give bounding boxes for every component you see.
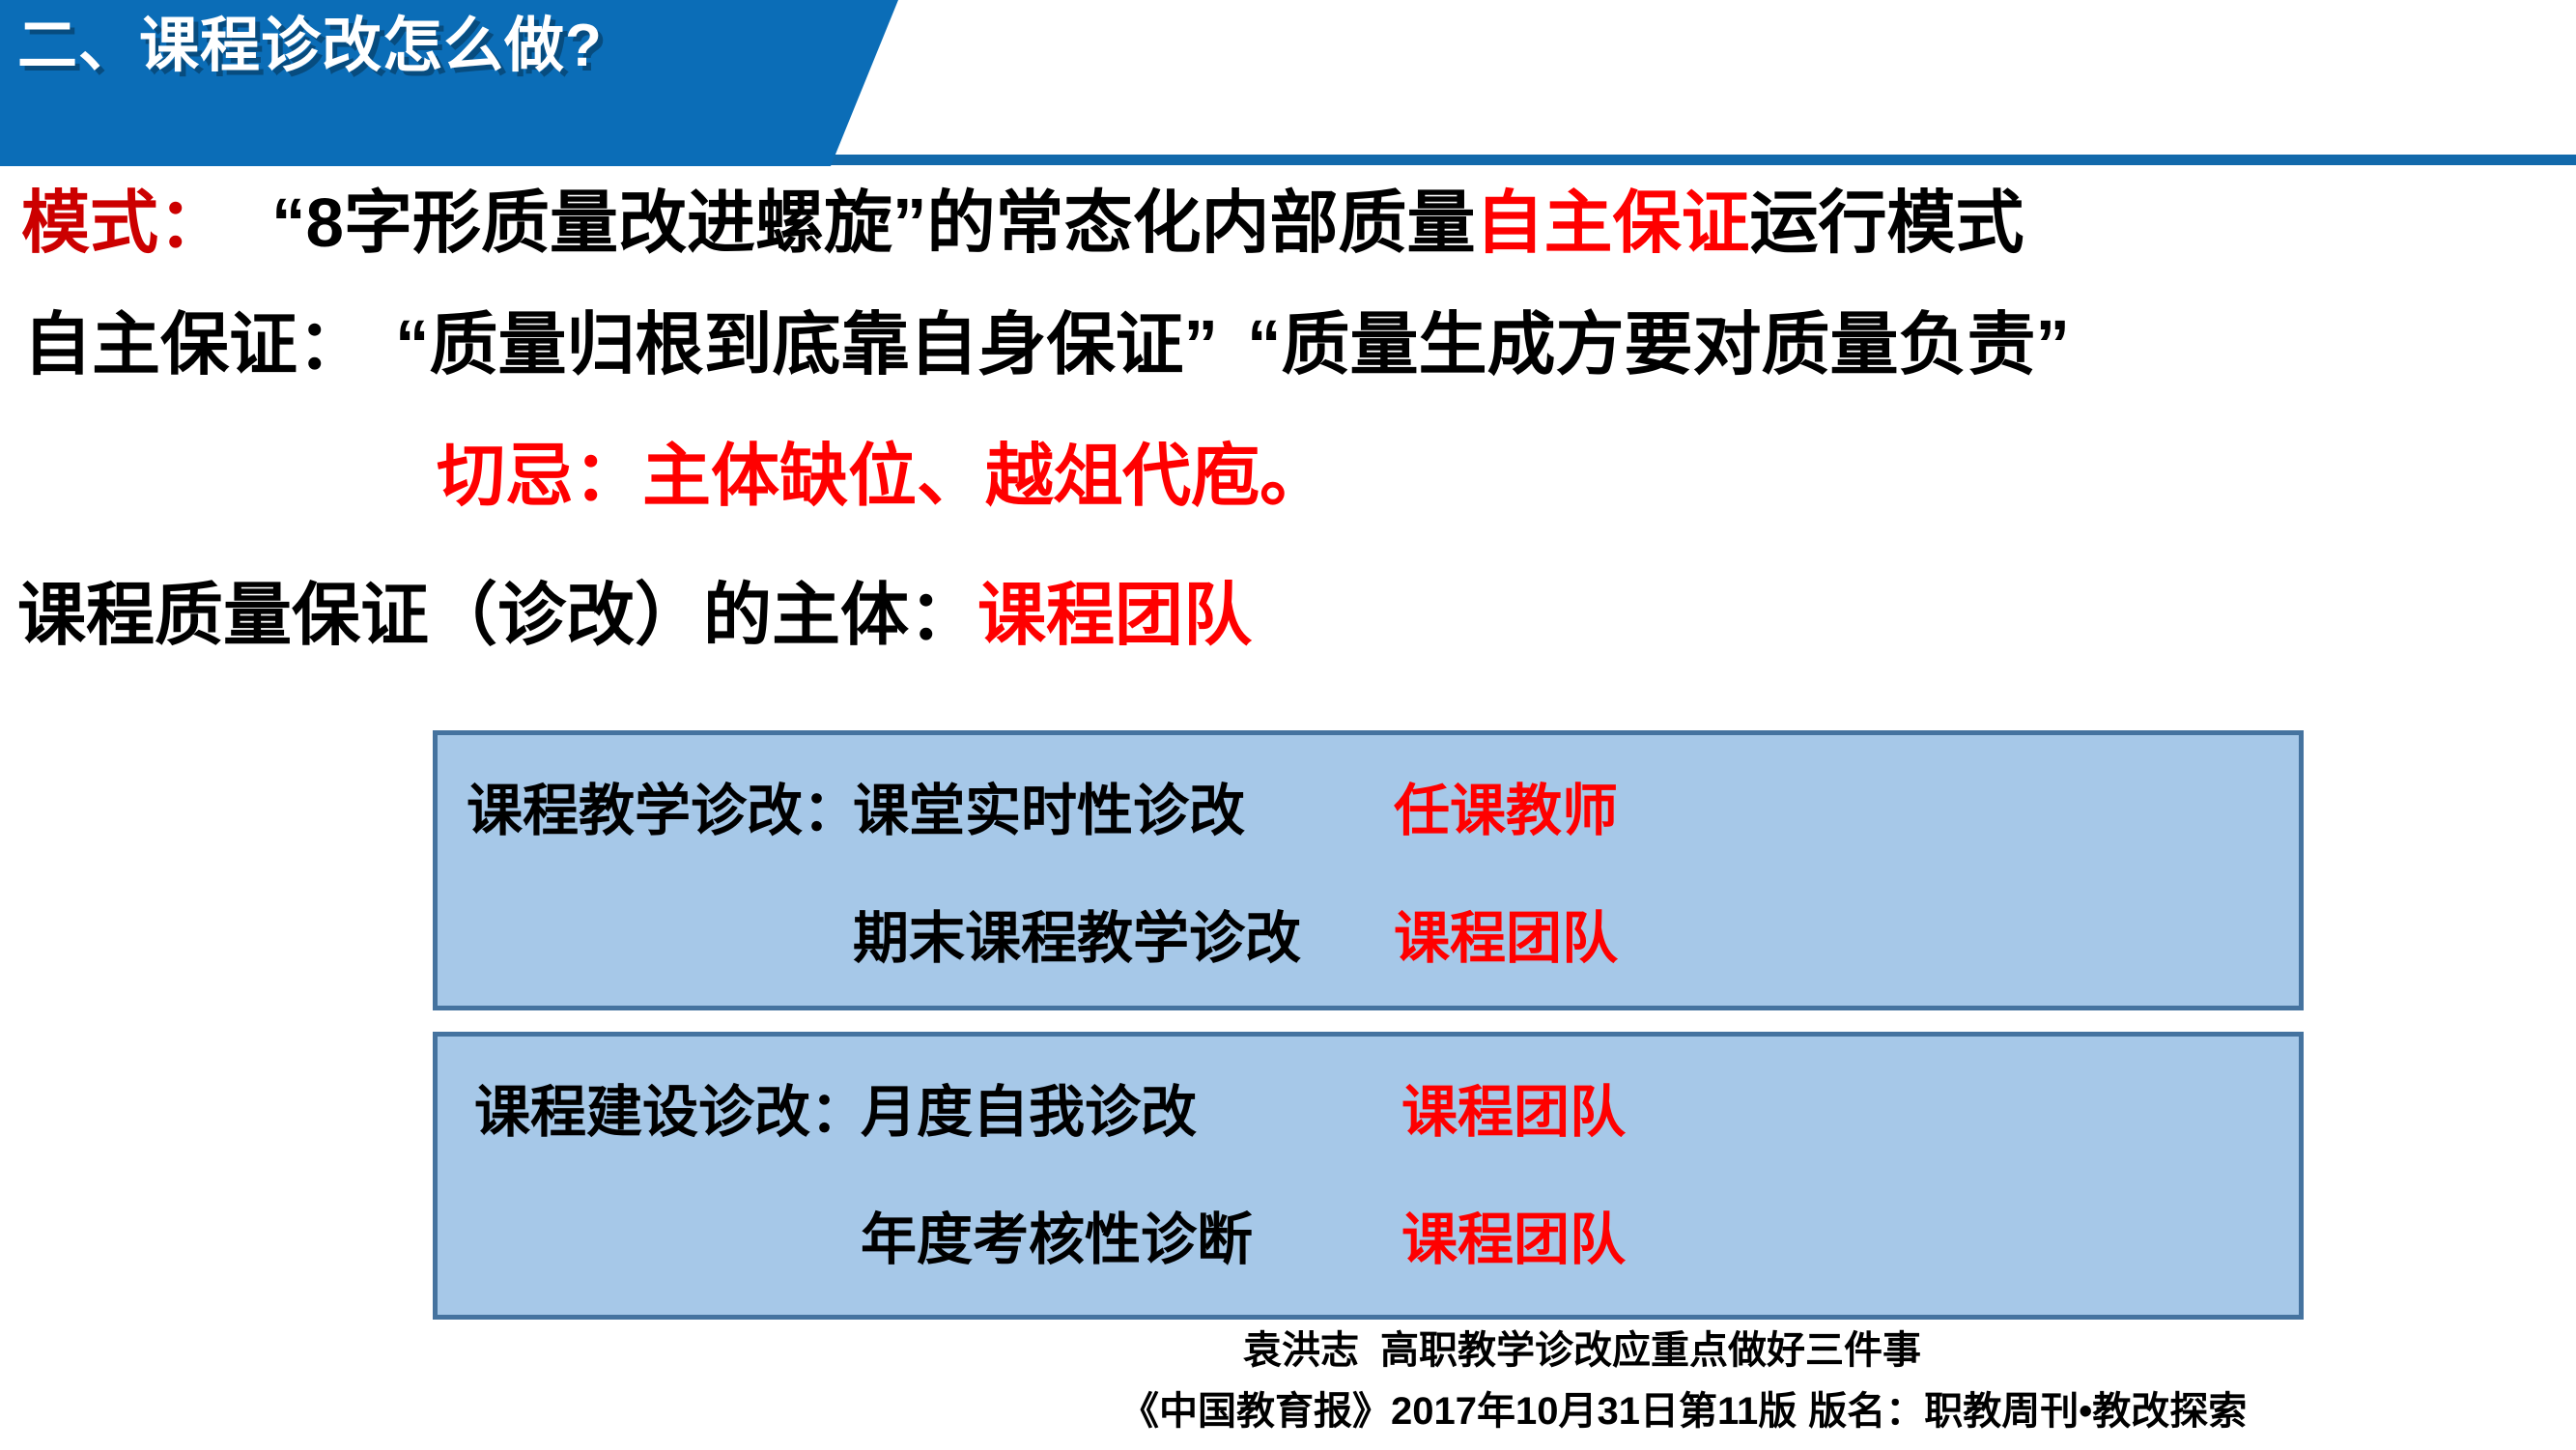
self-guarantee-quote-one: “质量归根到底靠自身保证” [395, 307, 1218, 384]
mode-text-before: “8字形质量改进螺旋”的常态化内部质量 [271, 185, 1476, 262]
avoid-warning-line: 切忌：主体缺位、越俎代庖。 [437, 442, 1328, 511]
row-label: 课程教学诊改： [467, 783, 853, 839]
citation-publication-line: 《中国教育报》2017年10月31日第11版版名：职教周刊•教改探索 [1120, 1392, 2247, 1431]
self-guarantee-line: 自主保证：“质量归根到底靠自身保证”“质量生成方要对质量负责” [23, 311, 2070, 380]
page-title: 二、课程诊改怎么做? [17, 12, 603, 80]
citation-section: 版名：职教周刊•教改探索 [1808, 1390, 2247, 1433]
citation-source-line: 袁洪志高职教学诊改应重点做好三件事 [1243, 1331, 1921, 1370]
mode-label: 模式： [21, 185, 227, 262]
row-item: 期末课程教学诊改 [853, 911, 1394, 967]
subject-highlight: 课程团队 [977, 578, 1252, 654]
mode-highlight: 自主保证 [1476, 185, 1750, 262]
citation-author: 袁洪志 [1243, 1329, 1359, 1372]
self-guarantee-label: 自主保证： [23, 307, 366, 384]
table-row: 期末课程教学诊改课程团队 [467, 911, 1618, 967]
row-item: 课堂实时性诊改 [853, 783, 1394, 839]
mode-text-after: 运行模式 [1750, 185, 2024, 262]
row-label: 课程建设诊改： [474, 1085, 861, 1141]
row-item: 月度自我诊改 [861, 1085, 1401, 1141]
citation-article-title: 高职教学诊改应重点做好三件事 [1380, 1329, 1921, 1372]
construction-diagnosis-box: 课程建设诊改：月度自我诊改课程团队 年度考核性诊断课程团队 [433, 1032, 2304, 1320]
row-item: 年度考核性诊断 [861, 1212, 1401, 1268]
subject-text: 课程质量保证（诊改）的主体： [17, 578, 977, 654]
table-row: 课程建设诊改：月度自我诊改课程团队 [474, 1085, 1626, 1141]
table-row: 课程教学诊改：课堂实时性诊改任课教师 [467, 783, 1618, 839]
row-owner: 课程团队 [1401, 1085, 1626, 1141]
row-owner: 课程团队 [1401, 1212, 1626, 1268]
mode-line: 模式：“8字形质量改进螺旋”的常态化内部质量自主保证运行模式 [21, 189, 2024, 258]
row-owner: 课程团队 [1394, 911, 1618, 967]
subject-line: 课程质量保证（诊改）的主体：课程团队 [17, 582, 1252, 650]
teaching-diagnosis-box: 课程教学诊改：课堂实时性诊改任课教师 期末课程教学诊改课程团队 [433, 730, 2304, 1010]
row-owner: 任课教师 [1394, 783, 1618, 839]
table-row: 年度考核性诊断课程团队 [474, 1212, 1626, 1268]
self-guarantee-quote-two: “质量生成方要对质量负责” [1247, 307, 2070, 384]
citation-publication: 《中国教育报》2017年10月31日第11版 [1120, 1390, 1797, 1433]
